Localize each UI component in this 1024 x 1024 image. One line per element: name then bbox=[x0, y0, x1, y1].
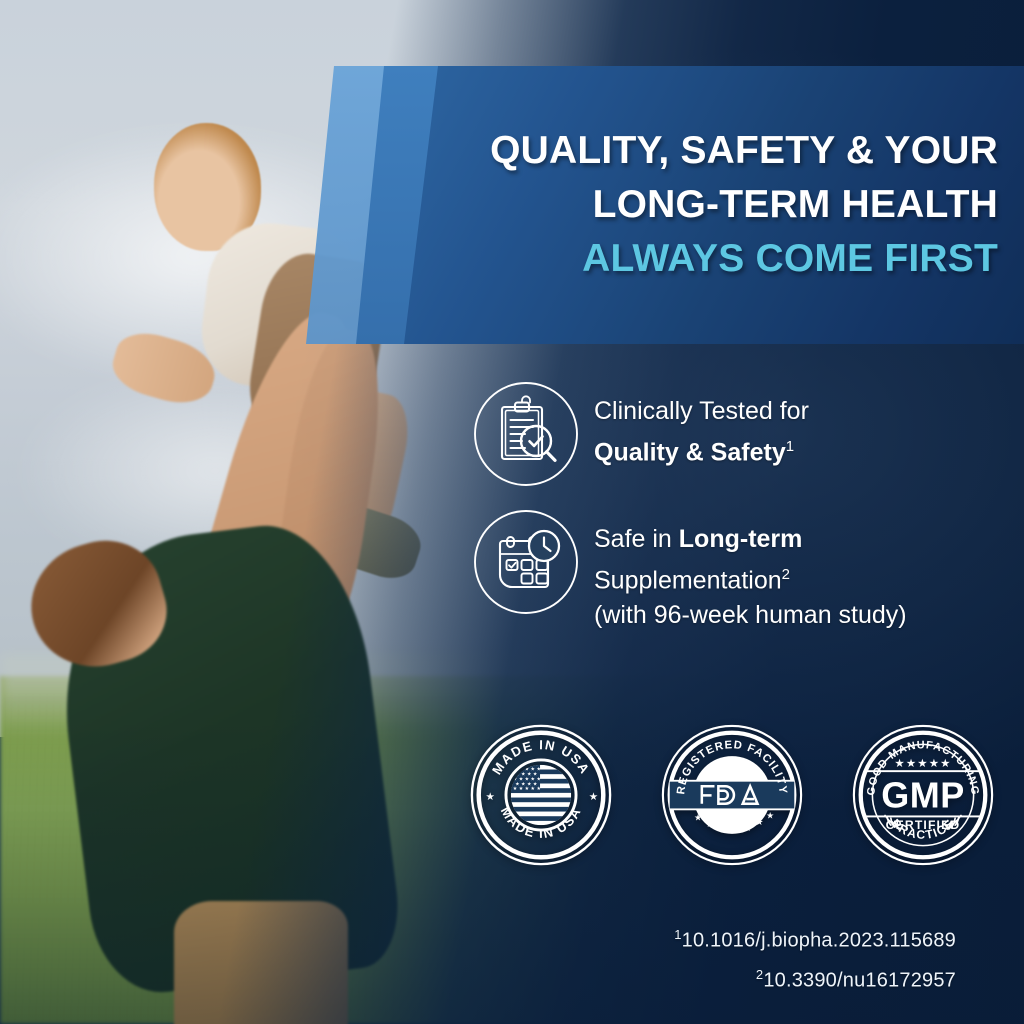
made-in-usa-badge: ★ ★ ★ ★ ★ ★ ★ ★ ★ ★ ★ ★ ★ ★ ★ ★ ★ ★ ★ ★ … bbox=[468, 722, 614, 868]
feature-2-line-1-bold: Long-term bbox=[679, 525, 803, 553]
feature-item-clinically-tested: Clinically Tested for Quality & Safety1 bbox=[470, 378, 990, 490]
citation-1: 110.1016/j.biopha.2023.115689 bbox=[674, 918, 956, 958]
feature-2-footnote-marker: 2 bbox=[782, 566, 790, 583]
feature-1-footnote-marker: 1 bbox=[786, 438, 794, 455]
feature-text-long-term-safety: Safe in Long-term Supplementation2 (with… bbox=[582, 506, 907, 633]
feature-2-line-3: (with 96-week human study) bbox=[594, 601, 907, 629]
feature-1-line-1: Clinically Tested for bbox=[594, 397, 809, 425]
citation-1-marker: 1 bbox=[674, 927, 681, 942]
headline-line-3: ALWAYS COME FIRST bbox=[582, 232, 998, 286]
gmp-certified-badge: ★★★★★ GMP CERTIFIED GOOD MANUFACTURING P… bbox=[850, 722, 996, 868]
citation-2-doi: 10.3390/nu16172957 bbox=[763, 969, 956, 991]
citation-list: 110.1016/j.biopha.2023.115689 210.3390/n… bbox=[674, 918, 956, 997]
svg-text:★: ★ bbox=[744, 823, 752, 833]
headline-banner: QUALITY, SAFETY & YOUR LONG-TERM HEALTH … bbox=[0, 66, 1024, 344]
svg-text:★: ★ bbox=[486, 791, 496, 803]
clipboard-magnifier-check-icon bbox=[470, 378, 582, 490]
svg-text:★: ★ bbox=[694, 812, 702, 822]
headline-line-1: QUALITY, SAFETY & YOUR bbox=[490, 124, 998, 178]
feature-item-long-term-safety: Safe in Long-term Supplementation2 (with… bbox=[470, 506, 990, 633]
svg-text:★: ★ bbox=[766, 810, 774, 820]
svg-text:★: ★ bbox=[718, 824, 726, 834]
feature-2-line-2: Supplementation bbox=[594, 566, 782, 594]
feature-text-clinically-tested: Clinically Tested for Quality & Safety1 bbox=[582, 378, 809, 470]
citation-1-doi: 10.1016/j.biopha.2023.115689 bbox=[682, 930, 956, 952]
svg-text:★: ★ bbox=[731, 825, 739, 835]
svg-text:★★★★★: ★★★★★ bbox=[894, 757, 951, 770]
infographic-canvas: QUALITY, SAFETY & YOUR LONG-TERM HEALTH … bbox=[0, 0, 1024, 1024]
svg-text:★: ★ bbox=[706, 819, 714, 829]
fda-registered-facility-badge: REGISTERED FACILITY ★★★ ★★★ ★ bbox=[659, 722, 805, 868]
svg-text:GMP: GMP bbox=[881, 775, 964, 816]
certification-badge-row: ★ ★ ★ ★ ★ ★ ★ ★ ★ ★ ★ ★ ★ ★ ★ ★ ★ ★ ★ ★ … bbox=[468, 722, 996, 868]
feature-2-line-1-normal: Safe in bbox=[594, 525, 679, 553]
headline-line-2: LONG-TERM HEALTH bbox=[593, 178, 998, 232]
feature-list: Clinically Tested for Quality & Safety1 bbox=[470, 378, 990, 649]
citation-2: 210.3390/nu16172957 bbox=[674, 958, 956, 998]
feature-1-line-2: Quality & Safety bbox=[594, 438, 786, 466]
calendar-clock-icon bbox=[470, 506, 582, 618]
svg-text:★: ★ bbox=[755, 817, 763, 827]
svg-text:★: ★ bbox=[589, 791, 599, 803]
headline-text-group: QUALITY, SAFETY & YOUR LONG-TERM HEALTH … bbox=[404, 66, 1024, 344]
svg-text:★ ★ ★ ★ ★: ★ ★ ★ ★ ★ bbox=[513, 786, 542, 792]
